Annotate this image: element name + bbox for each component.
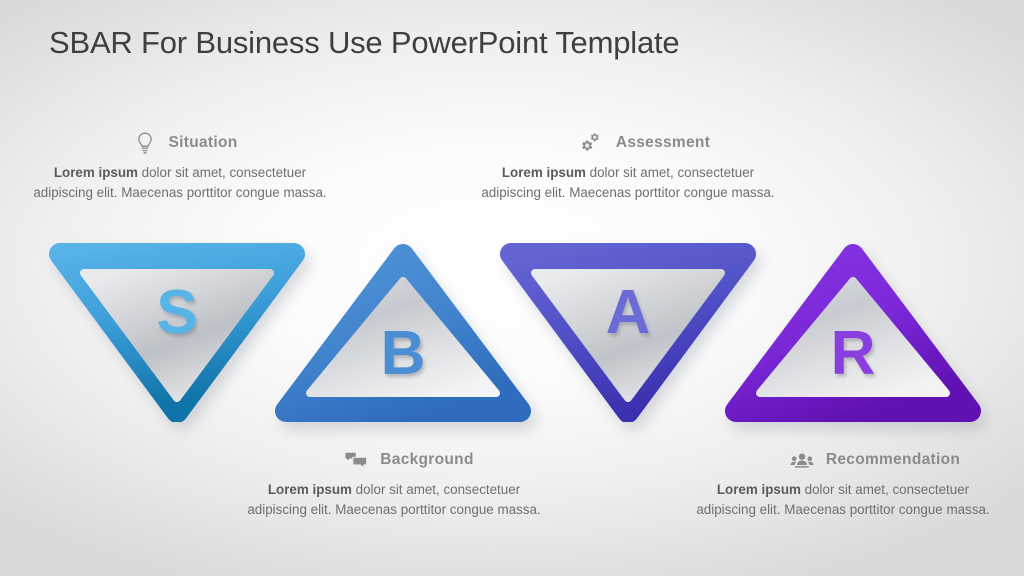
chat-bubbles-icon [344, 448, 368, 472]
heading-label-background: Background [380, 451, 473, 469]
page-title: SBAR For Business Use PowerPoint Templat… [49, 25, 679, 61]
slide-canvas: SBAR For Business Use PowerPoint Templat… [0, 0, 1024, 576]
text-block-background: Background Lorem ipsum dolor sit amet, c… [244, 447, 544, 521]
triangle-situation[interactable]: S [46, 240, 308, 422]
heading-background: Background [244, 447, 544, 473]
triangle-letter-s: S [156, 282, 197, 344]
heading-recommendation: Recommendation [693, 447, 993, 473]
triangle-letter-b: B [381, 323, 426, 385]
heading-assessment: Assessment [478, 130, 778, 156]
body-text-assessment: Lorem ipsum dolor sit amet, consectetuer… [478, 163, 778, 204]
body-bold-situation: Lorem ipsum [54, 165, 138, 180]
triangle-background[interactable]: B [272, 243, 534, 425]
body-bold-assessment: Lorem ipsum [502, 165, 586, 180]
heading-situation: Situation [30, 130, 330, 156]
gears-icon [580, 131, 604, 155]
triangle-assessment[interactable]: A [497, 240, 759, 422]
people-group-icon [790, 448, 814, 472]
body-bold-background: Lorem ipsum [268, 482, 352, 497]
body-bold-recommendation: Lorem ipsum [717, 482, 801, 497]
body-text-recommendation: Lorem ipsum dolor sit amet, consectetuer… [693, 480, 993, 521]
heading-label-assessment: Assessment [616, 134, 710, 152]
heading-label-recommendation: Recommendation [826, 451, 960, 469]
text-block-recommendation: Recommendation Lorem ipsum dolor sit ame… [693, 447, 993, 521]
text-block-assessment: Assessment Lorem ipsum dolor sit amet, c… [478, 130, 778, 204]
body-text-situation: Lorem ipsum dolor sit amet, consectetuer… [30, 163, 330, 204]
text-block-situation: Situation Lorem ipsum dolor sit amet, co… [30, 130, 330, 204]
triangle-letter-a: A [606, 282, 651, 344]
heading-label-situation: Situation [169, 134, 238, 152]
triangle-letter-r: R [831, 323, 876, 385]
body-text-background: Lorem ipsum dolor sit amet, consectetuer… [244, 480, 544, 521]
triangle-recommendation[interactable]: R [722, 243, 984, 425]
lightbulb-icon [133, 131, 157, 155]
